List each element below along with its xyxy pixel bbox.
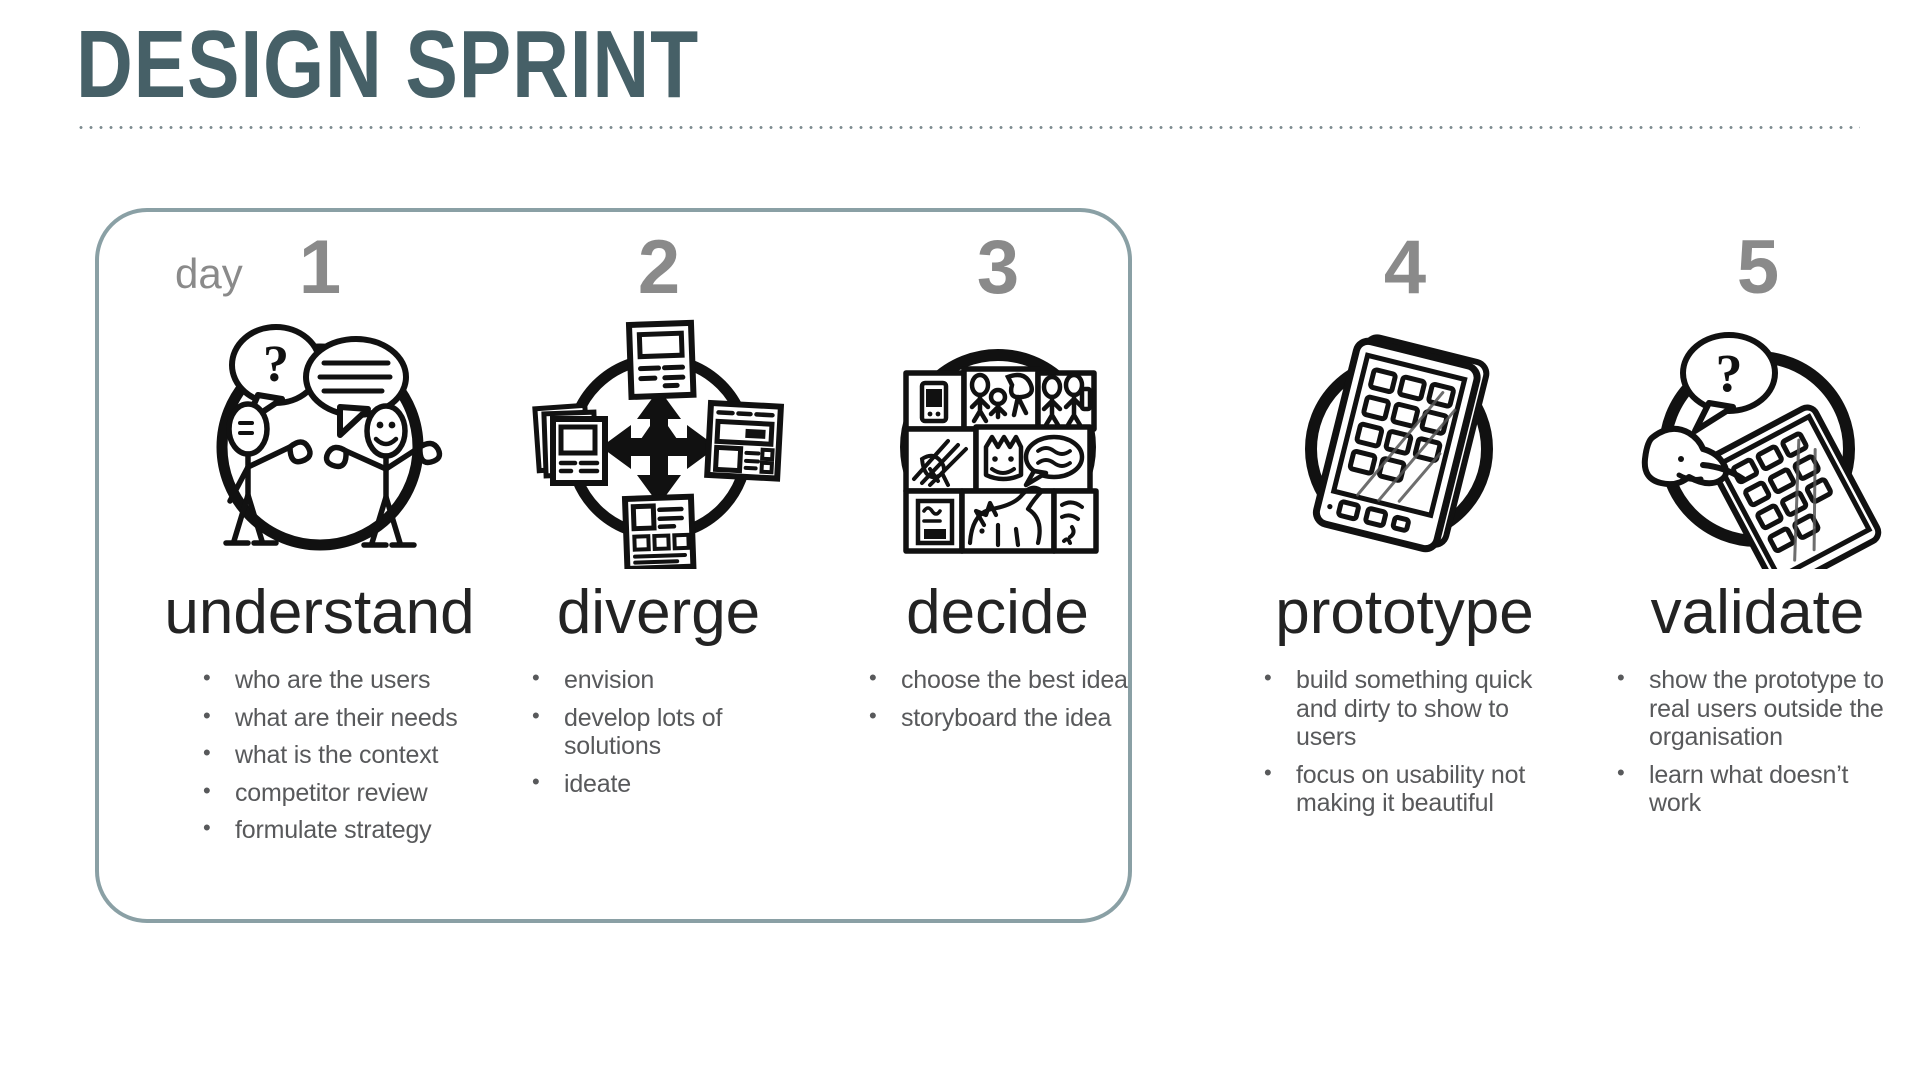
day-2-illustration [486, 310, 831, 578]
day-3-bullets: choose the best idea storyboard the idea [825, 666, 1170, 741]
two-people-talking-icon: ? [190, 319, 450, 569]
user-testing-tablet-icon: ? [1623, 319, 1893, 569]
day-1-bullets: who are the users what are their needs w… [147, 666, 492, 854]
list-item: who are the users [201, 666, 492, 695]
day-3-number: 3 [977, 232, 1018, 304]
day-5-number-row: 5 [1585, 208, 1920, 304]
list-item: what is the context [201, 741, 492, 770]
day-1-number: 1 [299, 232, 340, 304]
list-item: envision [530, 666, 794, 695]
day-2-number: 2 [638, 232, 679, 304]
day-1-number-row: day 1 [147, 208, 492, 304]
day-4-number-row: 4 [1232, 208, 1577, 304]
day-2-phase-name: diverge [557, 582, 760, 644]
list-item: ideate [530, 770, 794, 799]
page-header: DESIGN SPRINT [76, 16, 1866, 129]
list-item: what are their needs [201, 704, 492, 733]
day-3-number-row: 3 [825, 208, 1170, 304]
svg-text:?: ? [263, 336, 289, 393]
day-5-bullets: show the prototype to real users outside… [1585, 666, 1920, 827]
list-item: choose the best idea [867, 666, 1170, 695]
day-column-3: 3 [825, 208, 1170, 741]
storyboard-grid-icon [868, 319, 1128, 569]
list-item: focus on usability not making it beautif… [1262, 761, 1546, 818]
tablet-prototype-icon [1275, 319, 1535, 569]
list-item: formulate strategy [201, 816, 492, 845]
day-5-number: 5 [1737, 232, 1778, 304]
list-item: develop lots of solutions [530, 704, 794, 761]
day-4-bullets: build something quick and dirty to show … [1232, 666, 1577, 827]
list-item: learn what doesn’t work [1615, 761, 1899, 818]
svg-text:?: ? [1715, 343, 1742, 403]
day-column-1: day 1 ? [147, 208, 492, 854]
day-columns: day 1 ? [95, 208, 1885, 968]
day-column-5: 5 ? [1585, 208, 1920, 827]
day-4-illustration [1232, 310, 1577, 578]
list-item: show the prototype to real users outside… [1615, 666, 1899, 752]
four-way-arrows-wireframes-icon [529, 319, 789, 569]
day-column-2: 2 [486, 208, 831, 807]
page-title: DESIGN SPRINT [76, 16, 1544, 114]
dotted-divider [76, 126, 1860, 129]
list-item: competitor review [201, 779, 492, 808]
day-3-illustration [825, 310, 1170, 578]
day-2-bullets: envision develop lots of solutions ideat… [486, 666, 831, 807]
list-item: storyboard the idea [867, 704, 1170, 733]
day-column-4: 4 [1232, 208, 1577, 827]
day-4-phase-name: prototype [1275, 582, 1534, 644]
day-5-illustration: ? [1585, 310, 1920, 578]
day-2-number-row: 2 [486, 208, 831, 304]
day-label: day [175, 250, 243, 298]
day-4-number: 4 [1384, 232, 1425, 304]
day-5-phase-name: validate [1651, 582, 1865, 644]
day-3-phase-name: decide [906, 582, 1089, 644]
day-1-illustration: ? [147, 310, 492, 578]
list-item: build something quick and dirty to show … [1262, 666, 1546, 752]
day-1-phase-name: understand [164, 582, 474, 644]
